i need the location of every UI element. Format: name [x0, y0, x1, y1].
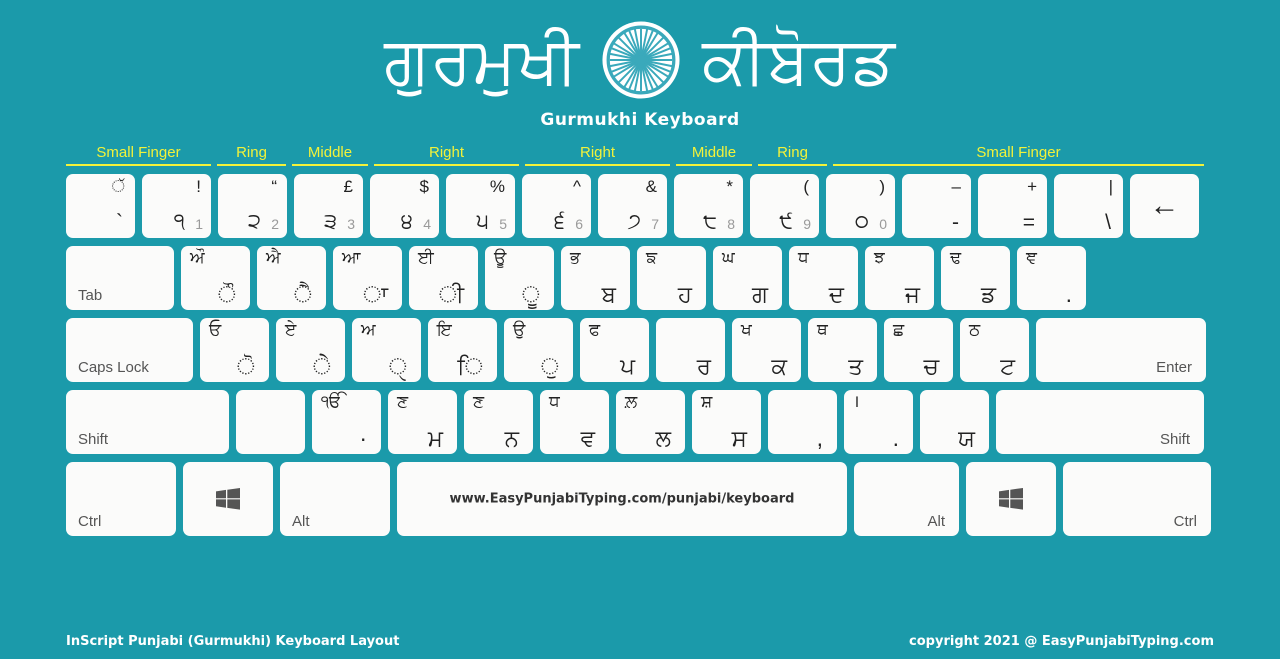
spacebar-url-label: www.EasyPunjabiTyping.com/punjabi/keyboa… — [450, 492, 795, 507]
key-glyph-primary: ਯ — [958, 426, 975, 451]
key-digit-4[interactable]: $੪4 — [370, 174, 439, 238]
key-glyph-shifted: £ — [344, 178, 353, 197]
key-glyph-primary: ਜ — [905, 282, 920, 307]
key-glyph-shifted: ਊ — [494, 249, 506, 268]
key-glyph-primary: ਰ — [697, 354, 711, 379]
key-key-backslash-102[interactable] — [236, 390, 305, 454]
ctrl-left-label: Ctrl — [78, 513, 101, 530]
title-gurmukhi-left: ਗੁਰਮੁਖੀ — [384, 27, 580, 93]
key-glyph-primary: ੁ — [541, 354, 559, 379]
key-key-k[interactable]: ਖਕ — [732, 318, 801, 382]
key-key-x[interactable]: ਣਮ — [388, 390, 457, 454]
key-glyph-primary: . — [893, 426, 899, 451]
key-glyph-shifted: – — [952, 178, 961, 197]
key-glyph-shifted: % — [490, 178, 505, 197]
key-glyph-primary: ਵ — [581, 426, 595, 451]
key-glyph-shifted: ਣ — [397, 393, 408, 412]
key-bracket-left[interactable]: ਢਡ — [941, 246, 1010, 310]
key-minus[interactable]: –- — [902, 174, 971, 238]
key-key-u[interactable]: ਙਹ — [637, 246, 706, 310]
key-glyph-primary: ਸ — [732, 426, 747, 451]
key-key-t[interactable]: ਊੂ — [485, 246, 554, 310]
windows-logo-icon — [999, 488, 1023, 510]
key-glyph-latin-number: 8 — [727, 217, 735, 231]
key-glyph-primary: ੑ — [389, 354, 407, 379]
key-glyph-primary: ` — [116, 211, 123, 234]
keyboard-row-tab: Tabਔੌਐੈਆਾਈੀਊੂਭਬਙਹਘਗਧਦਝਜਢਡਞ. — [66, 246, 1216, 310]
key-glyph-shifted: ( — [803, 178, 809, 197]
finger-guide-segment-3: Right — [374, 144, 519, 166]
key-digit-0[interactable]: )੦0 — [826, 174, 895, 238]
key-glyph-primary: ੇ — [313, 354, 331, 379]
key-glyph-shifted: ! — [196, 178, 201, 197]
key-glyph-latin-number: 7 — [651, 217, 659, 231]
key-glyph-primary: ੯ — [779, 210, 793, 233]
key-key-n[interactable]: ਸ਼ਸ — [692, 390, 761, 454]
keyboard: ੱ`!੧1“੨2£੩3$੪4%੫5^੬6&੭7*੮8(੯9)੦0–-+=|\← … — [66, 174, 1216, 544]
key-glyph-primary: ੬ — [554, 210, 565, 233]
key-glyph-shifted: ਭ — [570, 249, 580, 268]
key-key-z[interactable]: ੴ· — [312, 390, 381, 454]
key-glyph-primary: ੧ — [174, 210, 185, 233]
key-glyph-primary: ੮ — [703, 210, 717, 233]
key-digit-1[interactable]: !੧1 — [142, 174, 211, 238]
key-glyph-primary: ਕ — [771, 354, 787, 379]
key-glyph-shifted: ਘ — [722, 249, 735, 268]
alt-right-label: Alt — [927, 513, 945, 530]
key-glyph-shifted: ਆ — [342, 249, 361, 268]
key-slash[interactable]: ਯ — [920, 390, 989, 454]
key-glyph-latin-number: 1 — [195, 217, 203, 231]
key-key-i[interactable]: ਘਗ — [713, 246, 782, 310]
key-glyph-shifted: ਏ — [285, 321, 296, 340]
key-glyph-primary: ਦ — [829, 282, 844, 307]
key-glyph-primary: ੂ — [522, 282, 540, 307]
key-key-f[interactable]: ਇਿ — [428, 318, 497, 382]
key-shift-left[interactable]: Shift — [66, 390, 229, 454]
key-glyph-shifted: ਧ — [798, 249, 809, 268]
key-glyph-latin-number: 2 — [271, 217, 279, 231]
key-glyph-primary: ੩ — [324, 210, 337, 233]
key-glyph-shifted: ਐ — [266, 249, 281, 268]
finger-guide-segment-5: Middle — [676, 144, 752, 166]
key-key-a[interactable]: ਓੋ — [200, 318, 269, 382]
page-header: ਗੁਰਮੁਖੀ — [0, 0, 1280, 130]
key-glyph-shifted: “ — [271, 178, 277, 197]
key-key-v[interactable]: ਧਵ — [540, 390, 609, 454]
key-glyph-primary: ੈ — [294, 282, 312, 307]
key-glyph-primary: , — [817, 426, 823, 451]
key-glyph-primary: ਾ — [363, 282, 388, 307]
key-glyph-shifted: ਠ — [969, 321, 980, 340]
key-glyph-primary: ਲ — [655, 426, 671, 451]
key-glyph-primary: \ — [1105, 211, 1111, 234]
key-glyph-shifted: ਲ਼ — [625, 393, 637, 412]
key-key-c[interactable]: ਣਨ — [464, 390, 533, 454]
key-glyph-latin-number: 3 — [347, 217, 355, 231]
keyboard-row-bottom: CtrlAltwww.EasyPunjabiTyping.com/punjabi… — [66, 462, 1216, 536]
key-glyph-primary: ਡ — [981, 282, 996, 307]
caps-lock-label: Caps Lock — [78, 359, 149, 376]
key-glyph-shifted: ਢ — [950, 249, 961, 268]
key-digit-7[interactable]: &੭7 — [598, 174, 667, 238]
tab-label: Tab — [78, 287, 102, 304]
key-glyph-primary: ੦ — [855, 210, 869, 233]
key-glyph-shifted: ਸ਼ — [701, 393, 712, 412]
key-glyph-primary: - — [952, 211, 959, 234]
key-caps-lock[interactable]: Caps Lock — [66, 318, 193, 382]
enter-label: Enter — [1156, 359, 1192, 376]
key-period[interactable]: ।. — [844, 390, 913, 454]
ctrl-right-label: Ctrl — [1174, 513, 1197, 530]
key-glyph-shifted: ਖ — [741, 321, 752, 340]
key-glyph-shifted: ਧ — [549, 393, 560, 412]
finger-guide-segment-6: Ring — [758, 144, 827, 166]
key-glyph-shifted: ^ — [573, 178, 581, 197]
key-glyph-primary: ਮ — [428, 426, 443, 451]
key-backquote[interactable]: ੱ` — [66, 174, 135, 238]
key-glyph-shifted: ਓ — [209, 321, 221, 340]
key-ctrl-left[interactable]: Ctrl — [66, 462, 176, 536]
key-key-m[interactable]: , — [768, 390, 837, 454]
title-gurmukhi-right: ਕੀਬੋਰਡ — [702, 27, 896, 93]
key-bracket-right[interactable]: ਞ. — [1017, 246, 1086, 310]
key-glyph-shifted: ਉ — [513, 321, 525, 340]
key-glyph-primary: ਟ — [1000, 354, 1015, 379]
key-ctrl-right[interactable]: Ctrl — [1063, 462, 1211, 536]
page-title: ਗੁਰਮੁਖੀ — [0, 14, 1280, 106]
key-glyph-primary: ਹ — [678, 282, 692, 307]
key-glyph-primary: ਗ — [752, 282, 768, 307]
key-glyph-shifted: ਇ — [437, 321, 452, 340]
key-key-g[interactable]: ਉੁ — [504, 318, 573, 382]
key-glyph-primary: . — [1066, 282, 1072, 307]
key-key-j[interactable]: ਰ — [656, 318, 725, 382]
alt-left-label: Alt — [292, 513, 310, 530]
key-glyph-latin-number: 5 — [499, 217, 507, 231]
key-key-o[interactable]: ਧਦ — [789, 246, 858, 310]
footer-copyright: copyright 2021 @ EasyPunjabiTyping.com — [909, 634, 1214, 649]
key-glyph-shifted: ਫ — [589, 321, 600, 340]
key-glyph-primary: ਿ — [457, 354, 483, 379]
key-win-right[interactable] — [966, 462, 1056, 536]
page-footer: InScript Punjabi (Gurmukhi) Keyboard Lay… — [0, 634, 1280, 649]
key-glyph-shifted: ਈ — [418, 249, 434, 268]
key-backspace[interactable]: ← — [1130, 174, 1199, 238]
key-glyph-primary: ੋ — [237, 354, 255, 379]
finger-guide-segment-4: Right — [525, 144, 670, 166]
key-digit-9[interactable]: (੯9 — [750, 174, 819, 238]
ashoka-chakra-icon — [600, 19, 682, 101]
key-semicolon[interactable]: ਛਚ — [884, 318, 953, 382]
key-glyph-primary: = — [1023, 211, 1035, 234]
key-glyph-primary: ੪ — [401, 210, 413, 233]
key-digit-5[interactable]: %੫5 — [446, 174, 515, 238]
key-glyph-shifted: ਣ — [473, 393, 484, 412]
key-glyph-primary: ਨ — [505, 426, 519, 451]
key-glyph-shifted: + — [1027, 178, 1037, 197]
key-glyph-primary: ਤ — [848, 354, 863, 379]
shift-left-label: Shift — [78, 431, 108, 448]
key-key-b[interactable]: ਲ਼ਲ — [616, 390, 685, 454]
key-key-d[interactable]: ਅੑ — [352, 318, 421, 382]
key-glyph-primary: ੫ — [477, 210, 489, 233]
key-glyph-shifted: ਛ — [893, 321, 904, 340]
key-glyph-shifted: ਅ — [361, 321, 376, 340]
key-glyph-primary: ਬ — [602, 282, 616, 307]
key-key-l[interactable]: ਥਤ — [808, 318, 877, 382]
key-glyph-shifted: ਝ — [874, 249, 885, 268]
finger-guide-segment-1: Ring — [217, 144, 286, 166]
key-glyph-shifted: ਙ — [646, 249, 657, 268]
key-glyph-shifted: | — [1109, 178, 1113, 197]
key-glyph-primary: · — [359, 426, 367, 451]
key-tab[interactable]: Tab — [66, 246, 174, 310]
key-quote[interactable]: ਠਟ — [960, 318, 1029, 382]
key-glyph-shifted: * — [726, 178, 733, 197]
key-key-s[interactable]: ਏੇ — [276, 318, 345, 382]
key-glyph-latin-number: 9 — [803, 217, 811, 231]
key-digit-3[interactable]: £੩3 — [294, 174, 363, 238]
key-spacebar[interactable]: www.EasyPunjabiTyping.com/punjabi/keyboa… — [397, 462, 847, 536]
key-glyph-latin-number: 6 — [575, 217, 583, 231]
finger-guide-segment-7: Small Finger — [833, 144, 1204, 166]
key-digit-2[interactable]: “੨2 — [218, 174, 287, 238]
finger-guide-segment-2: Middle — [292, 144, 368, 166]
key-key-r[interactable]: ਈੀ — [409, 246, 478, 310]
footer-layout-name: InScript Punjabi (Gurmukhi) Keyboard Lay… — [66, 634, 399, 649]
key-glyph-primary: ੭ — [627, 210, 641, 233]
windows-logo-icon — [216, 488, 240, 510]
key-shift-right[interactable]: Shift — [996, 390, 1204, 454]
key-backslash[interactable]: |\ — [1054, 174, 1123, 238]
key-glyph-shifted: $ — [420, 178, 429, 197]
key-glyph-shifted: ਞ — [1026, 249, 1037, 268]
keyboard-row-home: Caps LockਓੋਏੇਅੑਇਿਉੁਫਪਰਖਕਥਤਛਚਠਟEnter — [66, 318, 1216, 382]
key-alt-left[interactable]: Alt — [280, 462, 390, 536]
keyboard-row-numbers: ੱ`!੧1“੨2£੩3$੪4%੫5^੬6&੭7*੮8(੯9)੦0–-+=|\← — [66, 174, 1216, 238]
key-key-e[interactable]: ਆਾ — [333, 246, 402, 310]
page-subtitle: Gurmukhi Keyboard — [0, 110, 1280, 130]
key-key-y[interactable]: ਭਬ — [561, 246, 630, 310]
finger-guide: Small FingerRingMiddleRightRightMiddleRi… — [66, 144, 1214, 166]
key-digit-8[interactable]: *੮8 — [674, 174, 743, 238]
key-key-p[interactable]: ਝਜ — [865, 246, 934, 310]
shift-right-label: Shift — [1160, 431, 1190, 448]
key-glyph-primary: ੌ — [218, 282, 236, 307]
key-glyph-latin-number: 4 — [423, 217, 431, 231]
key-key-w[interactable]: ਐੈ — [257, 246, 326, 310]
key-glyph-primary: ਚ — [923, 354, 939, 379]
key-equal[interactable]: += — [978, 174, 1047, 238]
key-glyph-primary: ਪ — [620, 354, 635, 379]
key-key-q[interactable]: ਔੌ — [181, 246, 250, 310]
key-glyph-shifted: ੴ — [321, 393, 342, 412]
keyboard-page: ਗੁਰਮੁਖੀ — [0, 0, 1280, 659]
key-glyph-primary: ੀ — [439, 282, 464, 307]
key-alt-right[interactable]: Alt — [854, 462, 959, 536]
key-key-h[interactable]: ਫਪ — [580, 318, 649, 382]
key-glyph-primary: ੨ — [248, 210, 261, 233]
key-enter[interactable]: Enter — [1036, 318, 1206, 382]
key-glyph-shifted: ) — [879, 178, 885, 197]
key-glyph-shifted: ਔ — [190, 249, 205, 268]
key-glyph-shifted: & — [646, 178, 657, 197]
key-glyph-shifted: । — [853, 393, 859, 412]
finger-guide-segment-0: Small Finger — [66, 144, 211, 166]
key-digit-6[interactable]: ^੬6 — [522, 174, 591, 238]
key-glyph-latin-number: 0 — [879, 217, 887, 231]
key-glyph-shifted: ੱ — [111, 178, 125, 197]
backspace-arrow-icon: ← — [1150, 191, 1180, 221]
key-glyph-shifted: ਥ — [817, 321, 828, 340]
key-win-left[interactable] — [183, 462, 273, 536]
keyboard-row-shift: Shiftੴ·ਣਮਣਨਧਵਲ਼ਲਸ਼ਸ,।.ਯShift — [66, 390, 1216, 454]
